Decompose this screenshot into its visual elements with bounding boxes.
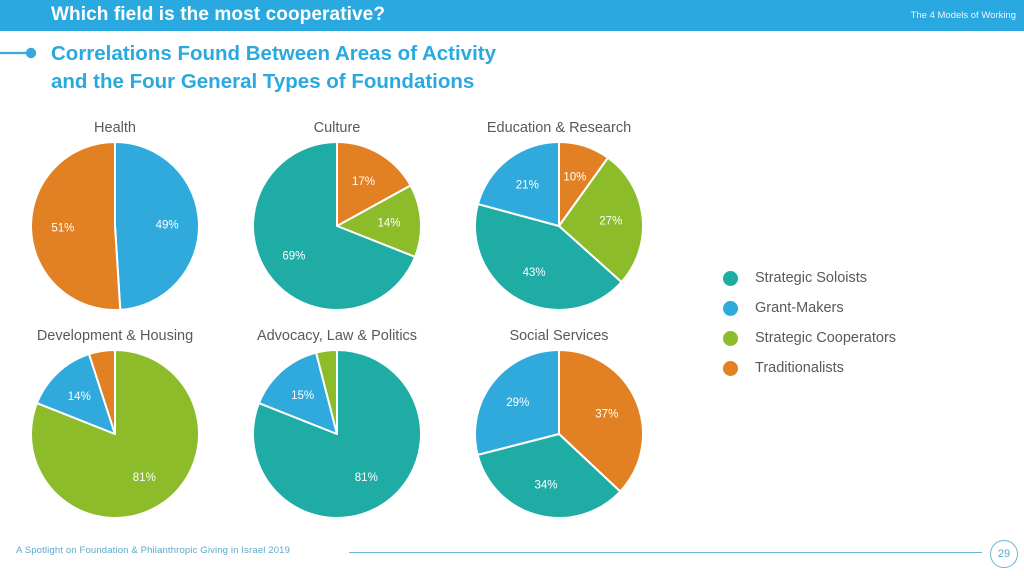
subtitle: Correlations Found Between Areas of Acti… [51, 40, 751, 96]
pie-slice-label: 10% [563, 171, 586, 183]
subtitle-line-2: and the Four General Types of Foundation… [51, 68, 751, 96]
pie-slice-label: 34% [534, 479, 557, 491]
pie-slice-label: 37% [595, 408, 618, 420]
pie-chart-graphic: 17%14%69% [249, 138, 425, 314]
page-title: Which field is the most cooperative? [51, 4, 385, 26]
pie-slice-label: 69% [282, 250, 305, 262]
pie-chart-2: Culture17%14%69% [222, 118, 452, 323]
header-kicker: The 4 Models of Working [911, 10, 1016, 21]
pie-chart-title: Culture [222, 118, 452, 138]
pie-chart-grid: Health49%51%Culture17%14%69%Education & … [0, 118, 700, 533]
pie-chart-title: Health [0, 118, 230, 138]
pie-chart-graphic: 81%14%5% [27, 346, 203, 522]
pie-slice-label: 15% [291, 390, 314, 402]
legend-item-label: Strategic Soloists [755, 270, 867, 286]
legend-color-swatch-icon [723, 271, 738, 286]
pie-slice-label: 81% [355, 472, 378, 484]
bullet-line-icon [0, 47, 50, 59]
legend-item[interactable]: Strategic Cooperators [723, 323, 1023, 353]
pie-slice-label: 81% [133, 472, 156, 484]
pie-slice-label: 27% [599, 215, 622, 227]
pie-chart-title: Education & Research [444, 118, 674, 138]
pie-slice-label: 21% [516, 180, 539, 192]
legend-item-label: Strategic Cooperators [755, 330, 896, 346]
legend-item[interactable]: Strategic Soloists [723, 263, 1023, 293]
pie-chart-graphic: 10%27%43%21% [471, 138, 647, 314]
pie-chart-1: Health49%51% [0, 118, 230, 323]
legend-color-swatch-icon [723, 361, 738, 376]
legend-item[interactable]: Grant-Makers [723, 293, 1023, 323]
pie-chart-5: Advocacy, Law & Politics81%15%4% [222, 326, 452, 531]
footer-source-text: A Spotlight on Foundation & Philanthropi… [16, 545, 290, 556]
pie-chart-title: Social Services [444, 326, 674, 346]
pie-slice [31, 142, 120, 310]
pie-slice-label: 49% [156, 219, 179, 231]
pie-slice-label: 14% [377, 218, 400, 230]
pie-slice-label: 29% [506, 397, 529, 409]
pie-slice-label: 17% [352, 176, 375, 188]
page-number-badge: 29 [990, 540, 1018, 568]
legend-color-swatch-icon [723, 331, 738, 346]
pie-chart-graphic: 81%15%4% [249, 346, 425, 522]
pie-slice-label: 14% [68, 391, 91, 403]
legend: Strategic SoloistsGrant-MakersStrategic … [723, 263, 1023, 383]
footer-divider [349, 552, 982, 553]
pie-chart-graphic: 49%51% [27, 138, 203, 314]
pie-chart-title: Advocacy, Law & Politics [222, 326, 452, 346]
legend-item-label: Grant-Makers [755, 300, 844, 316]
legend-item[interactable]: Traditionalists [723, 353, 1023, 383]
subtitle-line-1: Correlations Found Between Areas of Acti… [51, 40, 751, 68]
pie-chart-6: Social Services37%34%29% [444, 326, 674, 531]
pie-slice-label: 43% [523, 267, 546, 279]
legend-color-swatch-icon [723, 301, 738, 316]
pie-chart-3: Education & Research10%27%43%21% [444, 118, 674, 323]
pie-chart-graphic: 37%34%29% [471, 346, 647, 522]
pie-chart-title: Development & Housing [0, 326, 230, 346]
legend-item-label: Traditionalists [755, 360, 844, 376]
pie-slice-label: 51% [51, 223, 74, 235]
pie-chart-4: Development & Housing81%14%5% [0, 326, 230, 531]
